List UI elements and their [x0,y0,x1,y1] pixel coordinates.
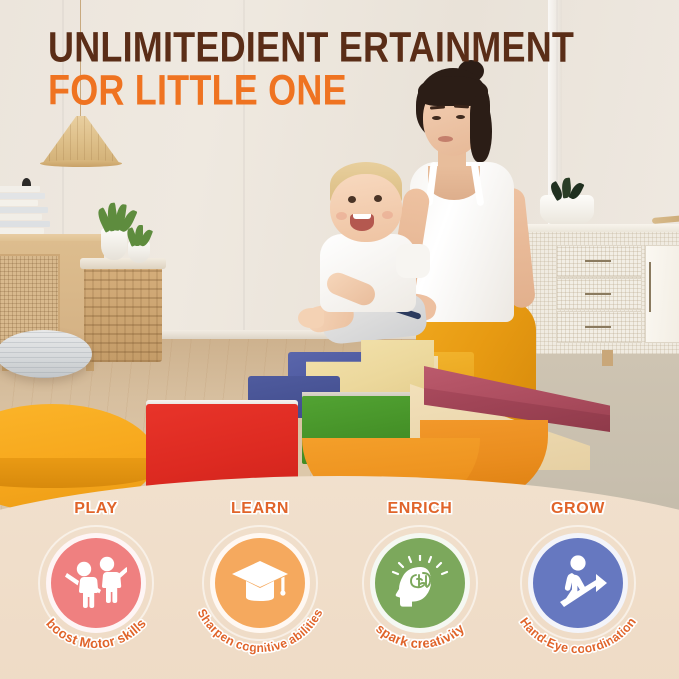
benefit-badges: PLAY [0,500,679,679]
brain-head-icon [390,555,450,611]
badge-disc-learn [210,533,310,633]
badge-caption-play: PLAY [16,500,176,518]
badge-enrich[interactable]: ENRICH [340,500,500,642]
badge-grow[interactable]: GROW H [498,500,658,642]
badge-caption-enrich: ENRICH [340,500,500,518]
graduation-cap-icon [230,557,290,609]
badge-disc-wrap-grow: Hand-Eye coordination [519,524,637,642]
product-poster: UNLIMITEDIENT ERTAINMENT FOR LITTLE ONE … [0,0,679,679]
two-children-icon [65,556,127,610]
badge-caption-learn: LEARN [180,500,340,518]
badge-disc-play [46,533,146,633]
badge-disc-wrap-enrich: spark creativity [361,524,479,642]
headline-line-1: UNLIMITEDIENT ERTAINMENT [48,26,648,68]
headline-line-2: FOR LITTLE ONE [48,69,648,111]
badge-caption-grow: GROW [498,500,658,518]
badge-play[interactable]: PLAY [16,500,176,642]
headline: UNLIMITEDIENT ERTAINMENT FOR LITTLE ONE [48,26,648,105]
badge-learn[interactable]: LEARN [180,500,340,642]
person-climbing-arrow-icon [547,554,609,612]
badge-disc-grow [528,533,628,633]
badge-disc-enrich [370,533,470,633]
badge-disc-wrap-play: boost Motor skills [37,524,155,642]
badge-disc-wrap-learn: Sharpen cognitive abilities [201,524,319,642]
